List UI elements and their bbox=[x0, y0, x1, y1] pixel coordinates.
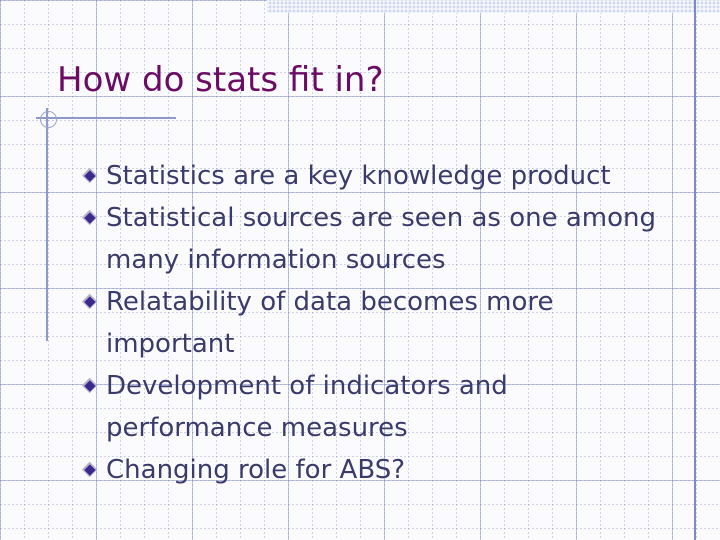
list-item: Statistics are a key knowledge product bbox=[82, 155, 662, 197]
list-item-label: Changing role for ABS? bbox=[106, 449, 662, 491]
diamond-bullet-icon bbox=[82, 462, 98, 478]
diamond-bullet-icon bbox=[82, 168, 98, 184]
diamond-bullet-icon bbox=[82, 210, 98, 226]
diamond-bullet-icon bbox=[82, 378, 98, 394]
diamond-bullet-icon bbox=[82, 294, 98, 310]
right-vertical-rule bbox=[694, 0, 696, 540]
circle-decoration-icon bbox=[40, 111, 57, 128]
list-item-label: Statistical sources are seen as one amon… bbox=[106, 197, 662, 281]
vertical-rule-decoration bbox=[46, 108, 48, 341]
slide-canvas: How do stats fit in? Statistics are a ke… bbox=[0, 0, 720, 540]
list-item: Statistical sources are seen as one amon… bbox=[82, 197, 662, 281]
page-title: How do stats fit in? bbox=[57, 60, 384, 100]
bullet-list: Statistics are a key knowledge product S… bbox=[82, 155, 662, 491]
horizontal-rule-decoration bbox=[36, 117, 176, 119]
list-item: Changing role for ABS? bbox=[82, 449, 662, 491]
list-item-label: Relatability of data becomes more import… bbox=[106, 281, 662, 365]
list-item: Relatability of data becomes more import… bbox=[82, 281, 662, 365]
top-band-decoration bbox=[267, 0, 720, 13]
list-item-label: Statistics are a key knowledge product bbox=[106, 155, 662, 197]
list-item-label: Development of indicators and performanc… bbox=[106, 365, 662, 449]
list-item: Development of indicators and performanc… bbox=[82, 365, 662, 449]
